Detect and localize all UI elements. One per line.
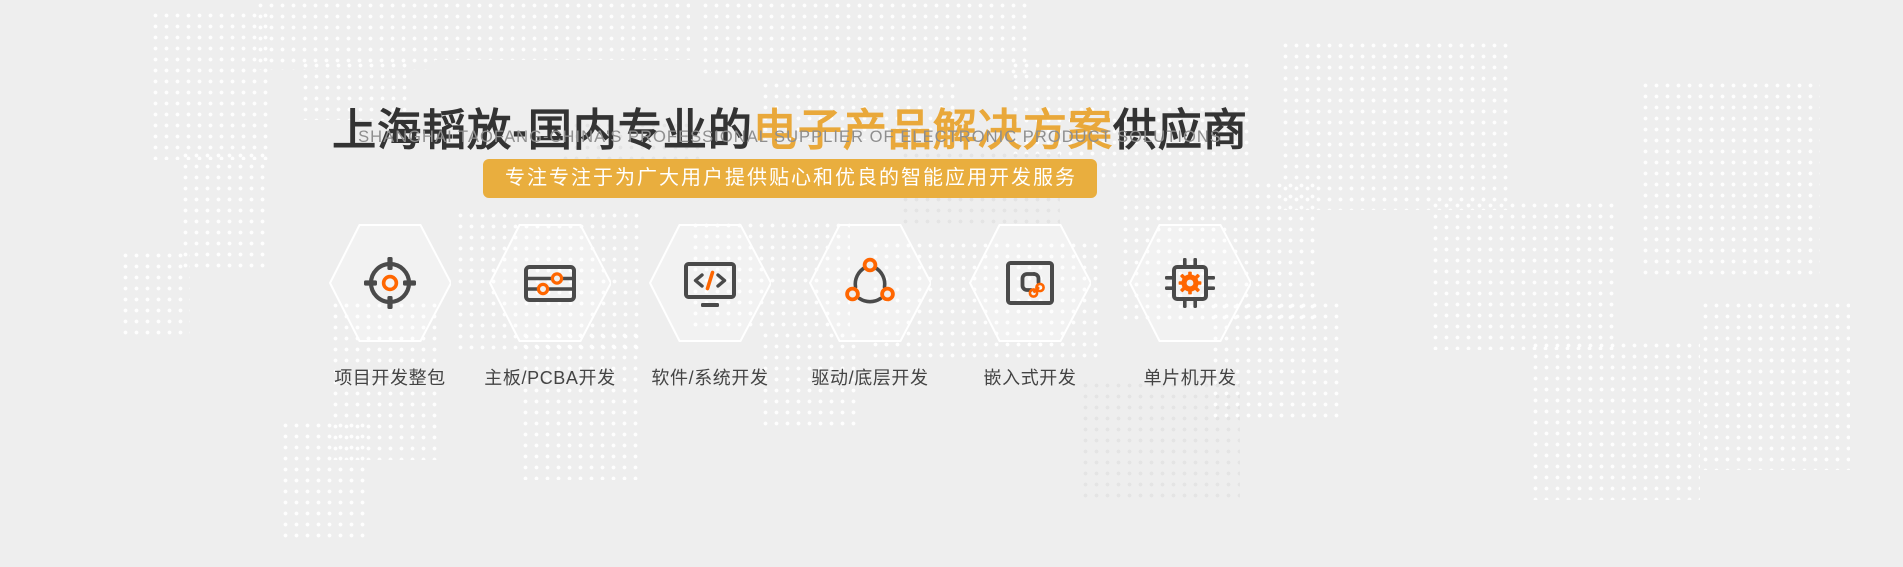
crosshair-target-icon	[359, 252, 421, 314]
tagline-badge: 专注专注于为广大用户提供贴心和优良的智能应用开发服务	[483, 159, 1097, 198]
circuit-board-icon	[519, 252, 581, 314]
page-subtitle: SHANGHAI TAOFANG-CHINA'S PROFESSIONAL SU…	[0, 126, 1580, 148]
embedded-chip-link-icon	[999, 252, 1061, 314]
service-label: 驱动/底层开发	[811, 366, 928, 390]
hexagon-frame	[1129, 222, 1251, 344]
network-nodes-icon	[839, 252, 901, 314]
microcontroller-gear-icon	[1159, 252, 1221, 314]
hexagon-frame	[969, 222, 1091, 344]
service-item-embedded[interactable]: 嵌入式开发	[969, 222, 1091, 390]
service-item-software[interactable]: 软件/系统开发	[649, 222, 771, 390]
service-label: 项目开发整包	[334, 366, 446, 390]
service-label: 单片机开发	[1144, 366, 1237, 390]
service-label: 软件/系统开发	[651, 366, 768, 390]
service-item-driver[interactable]: 驱动/底层开发	[809, 222, 931, 390]
hero-banner: 上海韬放-国内专业的电子产品解决方案供应商 SHANGHAI TAOFANG-C…	[0, 0, 1903, 567]
hexagon-frame	[489, 222, 611, 344]
service-label: 主板/PCBA开发	[484, 366, 615, 390]
hexagon-frame	[809, 222, 931, 344]
hexagon-frame	[649, 222, 771, 344]
monitor-code-icon	[679, 252, 741, 314]
service-item-mcu[interactable]: 单片机开发	[1129, 222, 1251, 390]
service-label: 嵌入式开发	[984, 366, 1077, 390]
service-item-pcba[interactable]: 主板/PCBA开发	[489, 222, 611, 390]
hexagon-frame	[329, 222, 451, 344]
service-item-project-package[interactable]: 项目开发整包	[329, 222, 451, 390]
banner-content: 上海韬放-国内专业的电子产品解决方案供应商 SHANGHAI TAOFANG-C…	[0, 0, 1903, 567]
tagline-badge-wrapper: 专注专注于为广大用户提供贴心和优良的智能应用开发服务	[0, 159, 1580, 198]
service-hexagon-row: 项目开发整包	[0, 222, 1580, 390]
